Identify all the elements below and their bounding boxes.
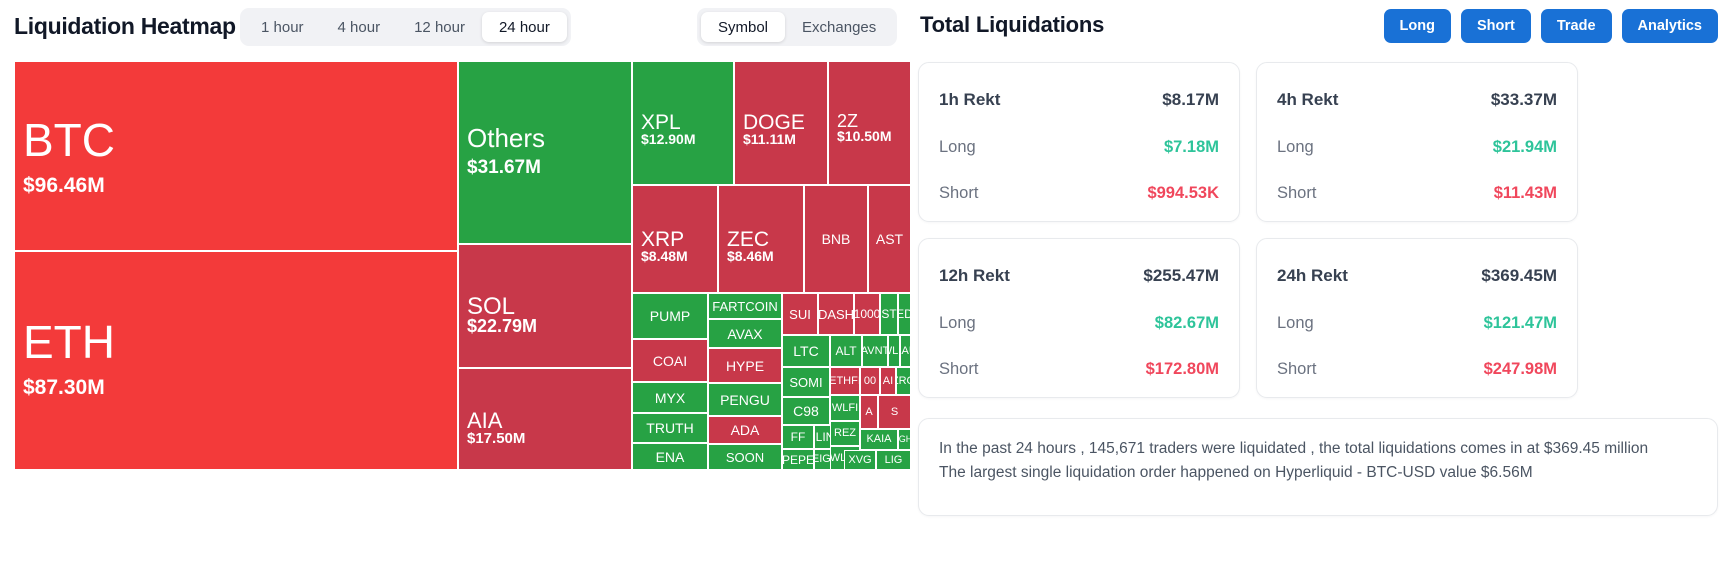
timeframe-tabs[interactable]: 1 hour4 hour12 hour24 hour <box>240 8 571 46</box>
rekt-row: Short$172.80M <box>939 360 1219 379</box>
treemap-cell-zro[interactable]: ZRO <box>896 367 911 395</box>
rekt-row: Short$994.53K <box>939 184 1219 203</box>
treemap-cell-a[interactable]: A <box>860 395 878 429</box>
rekt-row: Long$7.18M <box>939 138 1219 157</box>
treemap-cell-symbol: LIGHT <box>898 435 911 444</box>
treemap-cell-alt[interactable]: ALT <box>830 335 862 367</box>
grouping-tab-exchanges[interactable]: Exchanges <box>785 12 893 42</box>
total-liquidations-title: Total Liquidations <box>920 12 1104 38</box>
rekt-long-label: Long <box>939 138 976 157</box>
rekt-card-12h: 12h Rekt$255.47MLong$82.67MShort$172.80M <box>918 238 1240 398</box>
treemap-cell-symbol: ED <box>898 308 911 320</box>
treemap-cell-avnt[interactable]: AVNT <box>862 335 888 367</box>
treemap-cell-hype[interactable]: HYPE <box>708 348 782 383</box>
treemap-cell-truth[interactable]: TRUTH <box>632 413 708 443</box>
treemap-cell-pump[interactable]: PUMP <box>632 293 708 339</box>
treemap-cell-symbol: ETH <box>23 319 115 365</box>
rekt-short-value: $11.43M <box>1494 184 1557 203</box>
treemap-cell-s[interactable]: S <box>878 395 911 429</box>
treemap-cell-symbol: AVAX <box>727 327 762 341</box>
treemap-cell-symbol: AIA <box>467 410 502 432</box>
rekt-row: 24h Rekt$369.45M <box>1277 266 1557 286</box>
treemap-cell-symbol: ADA <box>731 423 760 437</box>
analytics-button[interactable]: Analytics <box>1622 9 1718 43</box>
rekt-short-label: Short <box>1277 360 1316 379</box>
treemap-cell-c98[interactable]: C98 <box>782 397 830 425</box>
treemap-cell-bnb[interactable]: BNB <box>804 185 868 293</box>
rekt-short-value: $172.80M <box>1146 360 1219 379</box>
rekt-row: 1h Rekt$8.17M <box>939 90 1219 110</box>
treemap-cell-symbol: 1000 <box>854 308 880 320</box>
timeframe-tab-4-hour[interactable]: 4 hour <box>321 12 398 42</box>
rekt-long-label: Long <box>1277 138 1314 157</box>
rekt-card-4h: 4h Rekt$33.37MLong$21.94MShort$11.43M <box>1256 62 1578 222</box>
treemap-cell-2z[interactable]: 2Z$10.50M <box>828 61 911 185</box>
treemap-cell-dash[interactable]: DASH <box>818 293 854 335</box>
treemap-cell-myx[interactable]: MYX <box>632 382 708 413</box>
treemap-cell-value: $8.46M <box>727 249 774 263</box>
treemap-cell-value: $10.50M <box>837 129 891 143</box>
treemap-cell-symbol: ZEC <box>727 229 769 250</box>
rekt-card-total: $369.45M <box>1481 266 1557 286</box>
summary-line-2: The largest single liquidation order hap… <box>939 461 1697 485</box>
treemap-cell-eth[interactable]: ETH$87.30M <box>14 251 458 470</box>
rekt-row: Short$11.43M <box>1277 184 1557 203</box>
liquidation-heatmap-page: Liquidation Heatmap 1 hour4 hour12 hour2… <box>0 0 1730 577</box>
treemap-cell-others[interactable]: Others$31.67M <box>458 61 632 244</box>
treemap-cell-symbol: FARTCOIN <box>712 300 778 313</box>
treemap-cell-value: $31.67M <box>467 158 541 177</box>
trade-button[interactable]: Trade <box>1541 9 1612 43</box>
rekt-long-value: $21.94M <box>1493 138 1557 157</box>
treemap-cell-zec[interactable]: ZEC$8.46M <box>718 185 804 293</box>
treemap-cell-pepe[interactable]: PEPE <box>782 449 814 470</box>
treemap-cell-ff[interactable]: FF <box>782 425 814 449</box>
rekt-short-value: $994.53K <box>1147 184 1219 203</box>
treemap-cell-doge[interactable]: DOGE$11.11M <box>734 61 828 185</box>
treemap-cell-st[interactable]: ST <box>880 293 898 335</box>
treemap-cell-symbol: ALT <box>835 345 856 357</box>
treemap-cell-symbol: SOL <box>467 295 515 319</box>
treemap-cell-symbol: PEPE <box>782 454 814 466</box>
treemap-cell-aia[interactable]: AIA$17.50M <box>458 368 632 470</box>
treemap-cell-symbol: COAI <box>653 354 687 368</box>
treemap-cell-symbol: XPL <box>641 112 681 133</box>
summary-line-1: In the past 24 hours , 145,671 traders w… <box>939 437 1697 461</box>
treemap-cell-symbol: XAU <box>900 346 911 357</box>
treemap-cell-symbol: SOMI <box>789 376 822 389</box>
treemap-cell-symbol: HYPE <box>726 359 764 373</box>
treemap-cell-xpl[interactable]: XPL$12.90M <box>632 61 734 185</box>
grouping-tabs[interactable]: SymbolExchanges <box>697 8 897 46</box>
treemap-cell-ltc[interactable]: LTC <box>782 335 830 367</box>
treemap-cell-kaia[interactable]: KAIA <box>860 429 898 450</box>
treemap-cell-symbol: Others <box>467 125 545 151</box>
treemap-cell-symbol: DOGE <box>743 112 805 133</box>
treemap-cell-ai[interactable]: AI <box>880 367 896 395</box>
liquidation-treemap[interactable]: BTC$96.46METH$87.30MOthers$31.67MSOL$22.… <box>14 61 911 470</box>
treemap-cell-symbol: XRP <box>641 229 684 250</box>
treemap-cell-lig[interactable]: LIG <box>876 450 911 470</box>
treemap-cell-symbol: ZRO <box>896 376 911 387</box>
rekt-card-1h: 1h Rekt$8.17MLong$7.18MShort$994.53K <box>918 62 1240 222</box>
rekt-long-value: $82.67M <box>1155 314 1219 333</box>
rekt-row: 4h Rekt$33.37M <box>1277 90 1557 110</box>
treemap-cell-symbol: XVG <box>848 455 871 466</box>
rekt-card-24h: 24h Rekt$369.45MLong$121.47MShort$247.98… <box>1256 238 1578 398</box>
treemap-cell-symbol: SOON <box>726 451 764 464</box>
treemap-cell-ena[interactable]: ENA <box>632 443 708 470</box>
treemap-cell-ethfi[interactable]: ETHFI <box>830 367 860 395</box>
treemap-cell-1000[interactable]: 1000 <box>854 293 880 335</box>
rekt-row: 12h Rekt$255.47M <box>939 266 1219 286</box>
treemap-cell-somi[interactable]: SOMI <box>782 367 830 397</box>
short-button[interactable]: Short <box>1461 9 1531 43</box>
rekt-row: Short$247.98M <box>1277 360 1557 379</box>
treemap-cell-xau[interactable]: XAU <box>900 335 911 367</box>
rekt-card-title: 4h Rekt <box>1277 90 1338 110</box>
treemap-cell-value: $22.79M <box>467 317 537 335</box>
action-buttons: LongShortTradeAnalytics <box>1384 9 1718 43</box>
treemap-cell-symbol: 00 <box>864 376 876 387</box>
rekt-row: Long$82.67M <box>939 314 1219 333</box>
treemap-cell-xrp[interactable]: XRP$8.48M <box>632 185 718 293</box>
treemap-cell-soon[interactable]: SOON <box>708 444 782 470</box>
rekt-card-total: $33.37M <box>1491 90 1557 110</box>
treemap-cell-symbol: AST <box>876 232 903 246</box>
treemap-cell-symbol: LTC <box>793 344 818 358</box>
treemap-cell-00[interactable]: 00 <box>860 367 880 395</box>
treemap-cell-value: $96.46M <box>23 175 105 196</box>
treemap-cell-light[interactable]: LIGHT <box>898 429 911 450</box>
treemap-cell-symbol: LIG <box>885 455 903 466</box>
rekt-short-label: Short <box>939 360 978 379</box>
treemap-cell-coai[interactable]: COAI <box>632 339 708 382</box>
rekt-short-label: Short <box>939 184 978 203</box>
rekt-card-total: $8.17M <box>1162 90 1219 110</box>
treemap-cell-symbol: S <box>891 407 898 418</box>
treemap-cell-symbol: MYX <box>655 391 685 405</box>
summary-card: In the past 24 hours , 145,671 traders w… <box>918 418 1718 516</box>
rekt-card-total: $255.47M <box>1143 266 1219 286</box>
rekt-long-value: $7.18M <box>1164 138 1219 157</box>
page-title: Liquidation Heatmap <box>14 13 236 40</box>
treemap-cell-rez[interactable]: REZ <box>830 421 860 446</box>
treemap-cell-avax[interactable]: AVAX <box>708 319 782 348</box>
rekt-long-label: Long <box>939 314 976 333</box>
treemap-cell-symbol: FF <box>791 431 806 443</box>
treemap-cell-symbol: BTC <box>23 117 115 163</box>
rekt-card-title: 1h Rekt <box>939 90 1000 110</box>
treemap-cell-wld[interactable]: WLD <box>888 335 900 367</box>
rekt-long-label: Long <box>1277 314 1314 333</box>
treemap-cell-ed[interactable]: ED <box>898 293 911 335</box>
treemap-cell-value: $12.90M <box>641 132 695 146</box>
treemap-cell-value: $11.11M <box>743 132 796 146</box>
treemap-cell-symbol: ST <box>881 308 896 320</box>
treemap-cell-symbol: ENA <box>656 450 685 464</box>
treemap-cell-symbol: ETHFI <box>830 376 860 387</box>
treemap-cell-symbol: KAIA <box>866 434 891 445</box>
page-header: Liquidation Heatmap 1 hour4 hour12 hour2… <box>0 0 1730 56</box>
treemap-cell-fartcoin[interactable]: FARTCOIN <box>708 293 782 319</box>
treemap-cell-symbol: AI <box>883 376 893 387</box>
rekt-row: Long$21.94M <box>1277 138 1557 157</box>
treemap-cell-value: $87.30M <box>23 377 105 398</box>
long-button[interactable]: Long <box>1384 9 1451 43</box>
treemap-cell-xvg[interactable]: XVG <box>844 450 876 470</box>
treemap-cell-symbol: PENGU <box>720 393 770 407</box>
timeframe-tab-12-hour[interactable]: 12 hour <box>397 12 482 42</box>
treemap-cell-symbol: AVNT <box>862 346 888 357</box>
treemap-cell-symbol: BNB <box>822 232 851 246</box>
treemap-cell-sol[interactable]: SOL$22.79M <box>458 244 632 368</box>
rekt-card-title: 24h Rekt <box>1277 266 1348 286</box>
rekt-short-label: Short <box>1277 184 1316 203</box>
treemap-cell-symbol: REZ <box>834 428 856 439</box>
rekt-card-title: 12h Rekt <box>939 266 1010 286</box>
treemap-cell-symbol: A <box>865 407 872 418</box>
rekt-row: Long$121.47M <box>1277 314 1557 333</box>
timeframe-tab-1-hour[interactable]: 1 hour <box>244 12 321 42</box>
rekt-short-value: $247.98M <box>1484 360 1557 379</box>
rekt-long-value: $121.47M <box>1484 314 1557 333</box>
treemap-cell-symbol: WLFI <box>832 403 858 414</box>
treemap-cell-ast[interactable]: AST <box>868 185 911 293</box>
treemap-cell-value: $17.50M <box>467 431 525 446</box>
timeframe-tab-24-hour[interactable]: 24 hour <box>482 12 567 42</box>
grouping-tab-symbol[interactable]: Symbol <box>701 12 785 42</box>
treemap-cell-wlfi[interactable]: WLFI <box>830 395 860 421</box>
treemap-cell-symbol: WLD <box>888 346 900 357</box>
treemap-cell-sui[interactable]: SUI <box>782 293 818 335</box>
treemap-cell-btc[interactable]: BTC$96.46M <box>14 61 458 251</box>
treemap-cell-symbol: 2Z <box>837 112 858 130</box>
treemap-cell-symbol: C98 <box>793 404 819 418</box>
treemap-cell-value: $8.48M <box>641 249 688 263</box>
treemap-cell-symbol: SUI <box>789 308 811 321</box>
treemap-cell-symbol: TRUTH <box>646 421 693 435</box>
treemap-cell-pengu[interactable]: PENGU <box>708 383 782 416</box>
treemap-cell-symbol: PUMP <box>650 309 690 323</box>
treemap-cell-ada[interactable]: ADA <box>708 416 782 444</box>
treemap-cell-symbol: DASH <box>818 308 854 321</box>
